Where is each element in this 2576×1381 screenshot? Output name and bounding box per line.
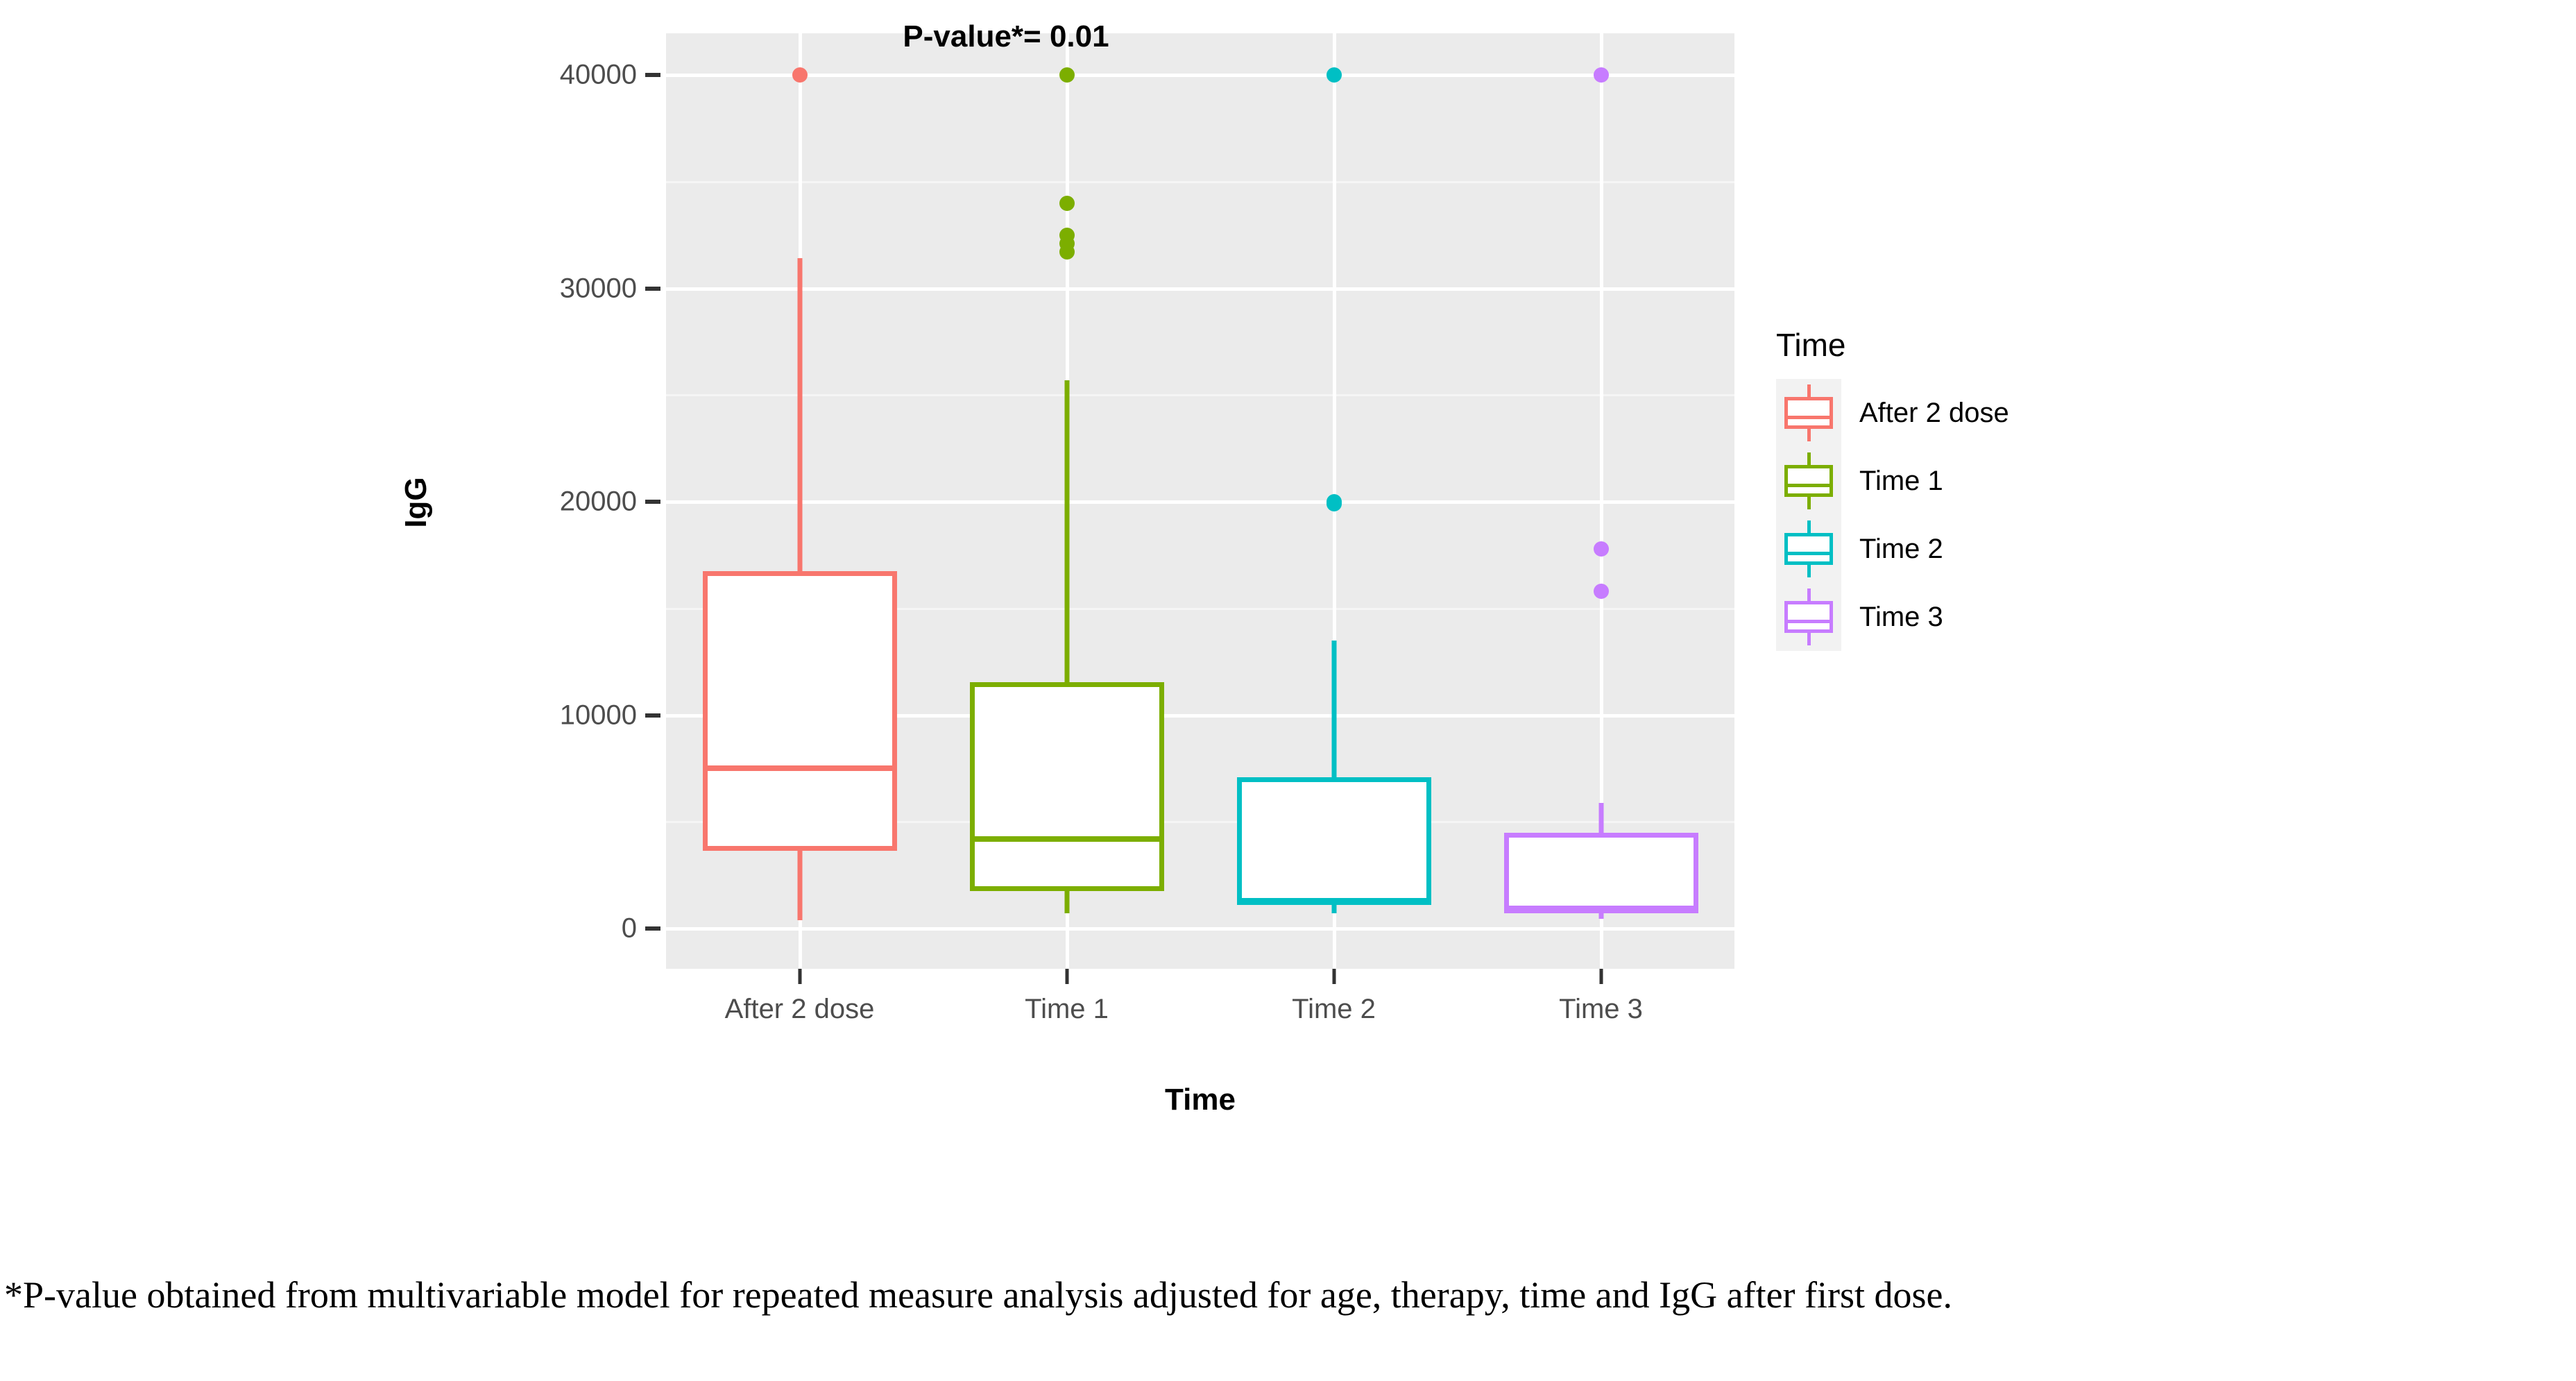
- median-line: [1504, 906, 1698, 911]
- x-tick-label: After 2 dose: [725, 994, 875, 1025]
- legend-item-label: Time 2: [1859, 534, 1943, 565]
- figure-caption: *P-value obtained from multivariable mod…: [4, 1271, 2571, 1319]
- y-tick-mark: [645, 287, 660, 291]
- y-tick-mark: [645, 73, 660, 77]
- y-gridline-major: [666, 74, 1734, 77]
- legend-key-box: [1784, 465, 1833, 497]
- y-gridline-major: [666, 500, 1734, 504]
- x-axis-label: Time: [1165, 1083, 1236, 1117]
- legend-key-whisker-bottom: [1807, 564, 1811, 577]
- box-iqr: [1504, 833, 1698, 914]
- y-tick-label: 10000: [560, 700, 637, 731]
- box-iqr: [703, 571, 897, 851]
- x-tick-mark: [1332, 969, 1336, 984]
- y-gridline-major: [666, 927, 1734, 931]
- legend-key-icon: [1776, 379, 1841, 447]
- y-tick-label: 30000: [560, 273, 637, 304]
- legend-item-3[interactable]: Time 2: [1776, 515, 2009, 583]
- legend-key-box: [1784, 533, 1833, 565]
- outlier-point: [1594, 584, 1609, 599]
- y-tick-label: 20000: [560, 486, 637, 518]
- x-tick-label: Time 3: [1559, 994, 1643, 1025]
- legend-item-4[interactable]: Time 3: [1776, 583, 2009, 651]
- legend-item-1[interactable]: After 2 dose: [1776, 379, 2009, 447]
- y-gridline-minor: [666, 181, 1734, 183]
- legend-key-median: [1784, 416, 1833, 419]
- x-tick-mark: [1599, 969, 1603, 984]
- whisker-lower: [1064, 891, 1069, 913]
- median-line: [970, 836, 1164, 842]
- outlier-point: [1327, 67, 1342, 83]
- whisker-upper: [797, 258, 802, 570]
- legend-key-whisker-top: [1807, 452, 1811, 466]
- y-tick-mark: [645, 926, 660, 931]
- legend-key-box: [1784, 601, 1833, 633]
- x-tick-label: Time 1: [1025, 994, 1109, 1025]
- outlier-point: [1327, 496, 1342, 511]
- legend-key-whisker-bottom: [1807, 632, 1811, 645]
- y-gridline-minor: [666, 394, 1734, 396]
- boxplot-figure: P-value*= 0.01 IgG Time 0100002000030000…: [0, 0, 2576, 1208]
- whisker-upper: [1331, 641, 1336, 777]
- legend-key-icon: [1776, 583, 1841, 651]
- y-tick-mark: [645, 500, 660, 504]
- whisker-lower: [1331, 905, 1336, 913]
- plot-title: P-value*= 0.01: [903, 19, 1109, 54]
- legend-key-median: [1784, 484, 1833, 487]
- outlier-point: [1594, 67, 1609, 83]
- legend: Time After 2 doseTime 1Time 2Time 3: [1776, 326, 2009, 651]
- legend-title: Time: [1776, 326, 2009, 364]
- legend-key-median: [1784, 552, 1833, 555]
- legend-key-whisker-bottom: [1807, 427, 1811, 441]
- outlier-point: [1059, 196, 1075, 211]
- outlier-point: [1059, 67, 1075, 83]
- legend-items: After 2 doseTime 1Time 2Time 3: [1776, 379, 2009, 651]
- legend-item-label: After 2 dose: [1859, 398, 2009, 429]
- box-iqr: [1237, 777, 1431, 906]
- legend-key-box: [1784, 397, 1833, 429]
- box-iqr: [970, 682, 1164, 891]
- whisker-lower: [1598, 913, 1603, 919]
- legend-key-whisker-top: [1807, 520, 1811, 534]
- outlier-point: [792, 67, 808, 83]
- whisker-upper: [1598, 803, 1603, 833]
- legend-key-icon: [1776, 447, 1841, 515]
- whisker-upper: [1064, 380, 1069, 682]
- x-tick-mark: [798, 969, 801, 984]
- median-line: [703, 765, 897, 771]
- y-tick-label: 40000: [560, 60, 637, 91]
- y-gridline-major: [666, 287, 1734, 291]
- y-tick-mark: [645, 713, 660, 718]
- y-axis-label: IgG: [399, 477, 434, 527]
- legend-key-whisker-top: [1807, 588, 1811, 602]
- x-tick-mark: [1065, 969, 1068, 984]
- legend-item-label: Time 3: [1859, 602, 1943, 633]
- legend-key-whisker-bottom: [1807, 495, 1811, 509]
- x-tick-label: Time 2: [1292, 994, 1376, 1025]
- whisker-lower: [797, 851, 802, 920]
- legend-key-whisker-top: [1807, 384, 1811, 398]
- median-line: [1237, 898, 1431, 904]
- y-tick-label: 0: [622, 913, 637, 944]
- legend-item-label: Time 1: [1859, 466, 1943, 497]
- outlier-point: [1059, 244, 1075, 260]
- outlier-point: [1594, 541, 1609, 557]
- legend-item-2[interactable]: Time 1: [1776, 447, 2009, 515]
- legend-key-icon: [1776, 515, 1841, 583]
- legend-key-median: [1784, 620, 1833, 623]
